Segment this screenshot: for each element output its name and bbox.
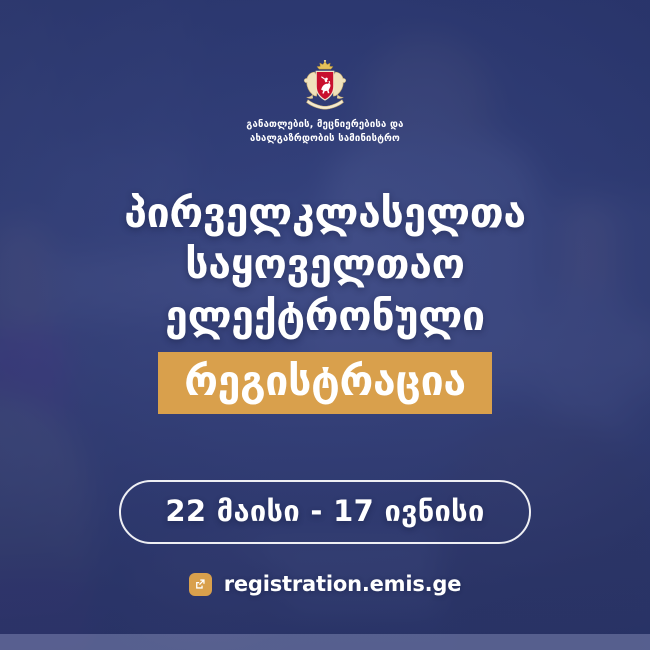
ministry-name: განათლების, მეცნიერებისა და ახალგაზრდობი… bbox=[246, 118, 403, 146]
website-link[interactable]: registration.emis.ge bbox=[189, 572, 462, 596]
ministry-name-line1: განათლების, მეცნიერებისა და bbox=[246, 118, 403, 132]
website-url-text[interactable]: registration.emis.ge bbox=[224, 572, 462, 596]
ministry-logo-block: განათლების, მეცნიერებისა და ახალგაზრდობი… bbox=[246, 60, 403, 146]
date-range-badge: 22 მაისი - 17 ივნისი bbox=[119, 480, 530, 544]
poster-content: განათლების, მეცნიერებისა და ახალგაზრდობი… bbox=[0, 0, 650, 650]
ministry-name-line2: ახალგაზრდობის სამინისტრო bbox=[246, 132, 403, 146]
registration-poster: განათლების, მეცნიერებისა და ახალგაზრდობი… bbox=[0, 0, 650, 650]
headline-line-3: ელექტრონული bbox=[124, 291, 526, 343]
registration-highlight-badge: რეგისტრაცია bbox=[158, 352, 492, 415]
external-link-icon bbox=[189, 573, 212, 596]
headline-line-2: საყოველთაო bbox=[124, 239, 526, 291]
headline: პირველკლასელთა საყოველთაო ელექტრონული bbox=[124, 188, 526, 343]
headline-line-1: პირველკლასელთა bbox=[124, 188, 526, 240]
georgian-coat-of-arms-icon bbox=[302, 60, 348, 110]
highlight-wrap: რეგისტრაცია bbox=[158, 352, 492, 415]
